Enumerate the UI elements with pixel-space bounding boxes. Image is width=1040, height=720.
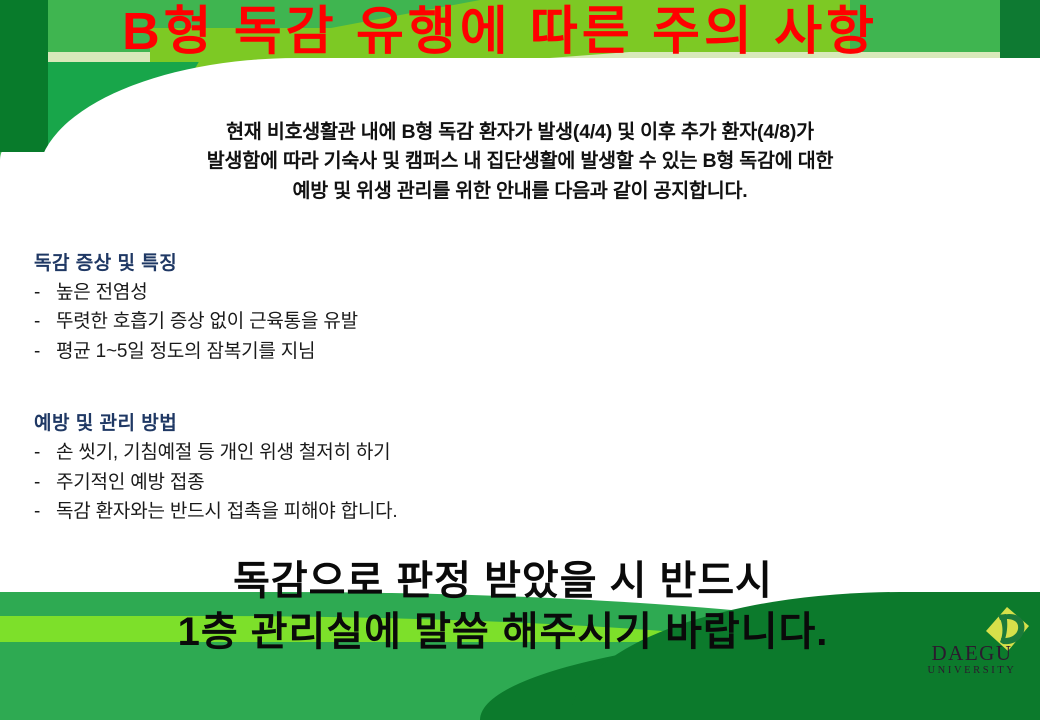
call-to-action: 독감으로 판정 받았을 시 반드시 1층 관리실에 말씀 해주시기 바랍니다. <box>0 556 1006 658</box>
page-title: B형 독감 유행에 따른 주의 사항 <box>0 4 1000 61</box>
bullet-marker: - <box>34 278 56 307</box>
poster-canvas: B형 독감 유행에 따른 주의 사항 현재 비호생활관 내에 B형 독감 환자가… <box>0 0 1040 720</box>
cta-line-1: 독감으로 판정 받았을 시 반드시 <box>0 556 1006 607</box>
bullet-marker: - <box>34 307 56 336</box>
section-symptoms: 독감 증상 및 특징 - 높은 전염성 - 뚜렷한 호흡기 증상 없이 근육통을… <box>34 248 1006 366</box>
cta-line-2: 1층 관리실에 말씀 해주시기 바랍니다. <box>0 607 1006 658</box>
section-prevention: 예방 및 관리 방법 - 손 씻기, 기침예절 등 개인 위생 철저히 하기 -… <box>34 408 1006 526</box>
section-prevention-heading: 예방 및 관리 방법 <box>34 408 1006 435</box>
intro-line-2: 발생함에 따라 기숙사 및 캠퍼스 내 집단생활에 발생할 수 있는 B형 독감… <box>34 147 1006 176</box>
list-item: - 손 씻기, 기침예절 등 개인 위생 철저히 하기 <box>34 438 1006 467</box>
list-item: - 뚜렷한 호흡기 증상 없이 근육통을 유발 <box>34 307 1006 336</box>
spacer <box>34 366 1006 386</box>
list-item-label: 뚜렷한 호흡기 증상 없이 근육통을 유발 <box>56 307 358 336</box>
poster-body: 현재 비호생활관 내에 B형 독감 환자가 발생(4/4) 및 이후 추가 환자… <box>34 118 1006 526</box>
list-item-label: 높은 전염성 <box>56 278 147 307</box>
logo-subtitle: UNIVERSITY <box>920 664 1024 678</box>
list-item: - 평균 1~5일 정도의 잠복기를 지님 <box>34 337 1006 366</box>
logo-wordmark: DAEGU UNIVERSITY <box>920 643 1024 678</box>
list-item-label: 독감 환자와는 반드시 접촉을 피해야 합니다. <box>56 497 398 526</box>
list-item: - 주기적인 예방 접종 <box>34 468 1006 497</box>
intro-line-1: 현재 비호생활관 내에 B형 독감 환자가 발생(4/4) 및 이후 추가 환자… <box>34 118 1006 147</box>
list-item: - 독감 환자와는 반드시 접촉을 피해야 합니다. <box>34 497 1006 526</box>
section-symptoms-heading: 독감 증상 및 특징 <box>34 248 1006 275</box>
bullet-marker: - <box>34 337 56 366</box>
university-logo: DAEGU UNIVERSITY <box>920 614 1032 692</box>
list-item-label: 주기적인 예방 접종 <box>56 468 204 497</box>
intro-paragraph: 현재 비호생활관 내에 B형 독감 환자가 발생(4/4) 및 이후 추가 환자… <box>34 118 1006 206</box>
list-item-label: 손 씻기, 기침예절 등 개인 위생 철저히 하기 <box>56 438 390 467</box>
intro-line-3: 예방 및 위생 관리를 위한 안내를 다음과 같이 공지합니다. <box>34 177 1006 206</box>
spacer <box>34 206 1006 226</box>
logo-name: DAEGU <box>920 643 1024 664</box>
bullet-marker: - <box>34 468 56 497</box>
list-item: - 높은 전염성 <box>34 278 1006 307</box>
bullet-marker: - <box>34 497 56 526</box>
list-item-label: 평균 1~5일 정도의 잠복기를 지님 <box>56 337 315 366</box>
bullet-marker: - <box>34 438 56 467</box>
